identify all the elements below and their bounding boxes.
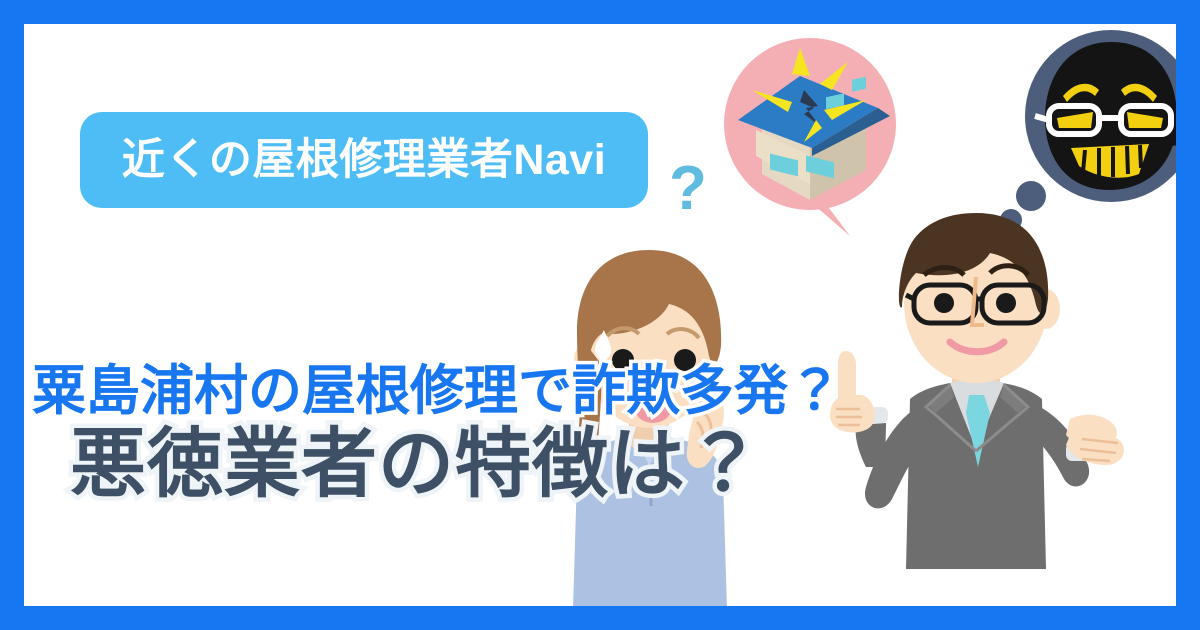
eyecatch-canvas: 近くの屋根修理業者Navi ? 粟島浦村の屋根修理で詐欺多発？ 悪徳業者の特徴は… bbox=[0, 0, 1200, 630]
question-mark-icon: ? bbox=[669, 158, 707, 220]
site-name-label: 近くの屋根修理業者Navi bbox=[122, 139, 606, 182]
content-stage: 近くの屋根修理業者Navi ? 粟島浦村の屋根修理で詐欺多発？ 悪徳業者の特徴は… bbox=[24, 24, 1176, 606]
pointing-businessman-illustration bbox=[814, 199, 1144, 606]
site-name-badge[interactable]: 近くの屋根修理業者Navi bbox=[80, 112, 648, 208]
worried-woman-illustration bbox=[519, 214, 819, 606]
